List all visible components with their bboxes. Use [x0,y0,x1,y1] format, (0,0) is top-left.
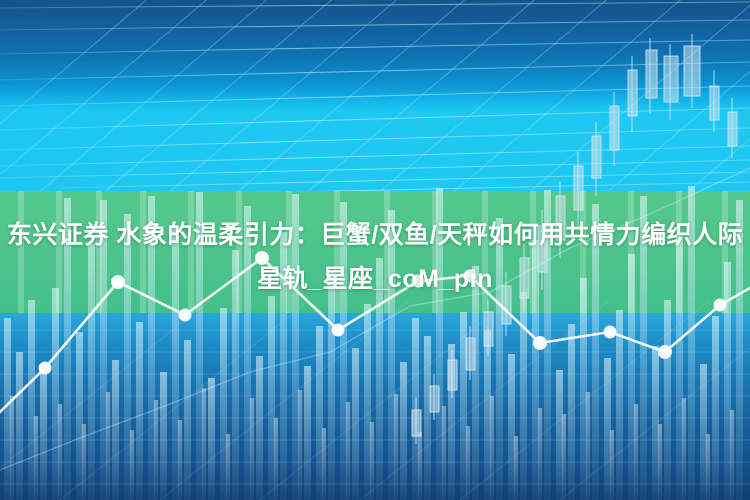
chart-artwork [0,0,750,500]
banner-image: 东兴证券 水象的温柔引力：巨蟹/双鱼/天秤如何用共情力编织人际 星轨_星座_co… [0,0,750,500]
